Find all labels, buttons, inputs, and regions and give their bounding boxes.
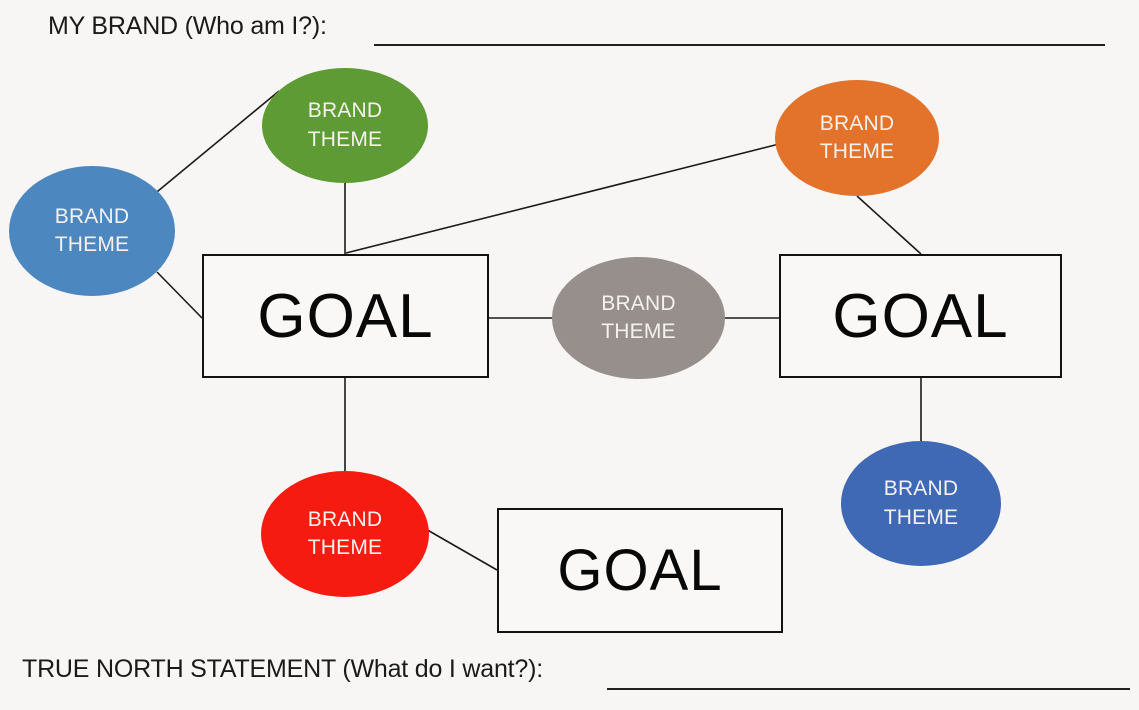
true-north-write-in-line[interactable] — [607, 688, 1130, 690]
theme-blue-bottom[interactable]: BRANDTHEME — [841, 441, 1001, 566]
brand-theme-line-1: BRAND — [55, 203, 130, 231]
brand-theme-line-2: THEME — [55, 231, 130, 259]
brand-theme-line-2: THEME — [820, 138, 895, 166]
brand-theme-line-2: THEME — [308, 126, 383, 154]
brand-theme-line-1: BRAND — [601, 290, 676, 318]
theme-red[interactable]: BRANDTHEME — [261, 471, 429, 597]
theme-green[interactable]: BRANDTHEME — [262, 68, 428, 183]
connector-theme-blue-left-to-goal-left — [157, 272, 202, 318]
goal-bottom[interactable]: GOAL — [497, 508, 783, 633]
goal-left[interactable]: GOAL — [202, 254, 489, 378]
theme-blue-left[interactable]: BRANDTHEME — [9, 166, 175, 296]
brand-theme-line-1: BRAND — [820, 110, 895, 138]
connector-theme-red-to-goal-bottom — [424, 528, 497, 570]
goal-label: GOAL — [557, 537, 722, 604]
true-north-statement-label: TRUE NORTH STATEMENT (What do I want?): — [22, 655, 543, 684]
goal-label: GOAL — [832, 281, 1008, 352]
brand-theme-line-1: BRAND — [884, 475, 959, 503]
brand-theme-line-1: BRAND — [308, 97, 383, 125]
worksheet-canvas: MY BRAND (Who am I?): GOALGOALGOALBRANDT… — [0, 0, 1139, 710]
goal-label: GOAL — [257, 281, 433, 352]
connector-theme-blue-left-to-theme-green — [152, 91, 279, 196]
brand-theme-line-2: THEME — [601, 318, 676, 346]
goal-right[interactable]: GOAL — [779, 254, 1062, 378]
brand-theme-line-2: THEME — [884, 504, 959, 532]
theme-orange[interactable]: BRANDTHEME — [775, 80, 939, 196]
theme-gray[interactable]: BRANDTHEME — [552, 257, 725, 379]
brand-theme-line-2: THEME — [308, 534, 383, 562]
brand-theme-line-1: BRAND — [308, 506, 383, 534]
connector-theme-orange-to-goal-right — [857, 196, 921, 254]
